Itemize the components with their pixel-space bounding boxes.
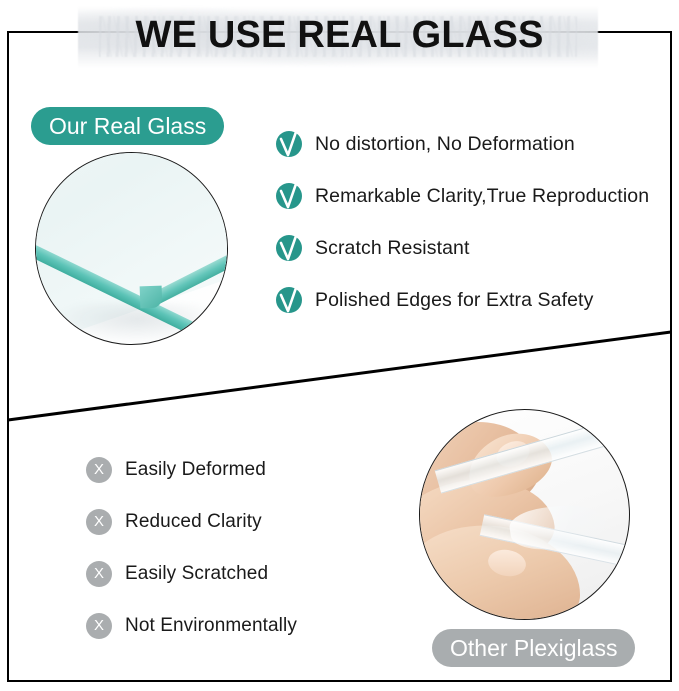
check-icon xyxy=(276,183,302,209)
x-icon: X xyxy=(86,509,112,535)
diagonal-divider xyxy=(8,330,671,422)
list-item-label: Remarkable Clarity,True Reproduction xyxy=(315,185,649,208)
plexiglass-photo xyxy=(419,409,630,620)
list-item-label: Easily Deformed xyxy=(125,459,266,481)
page-title: WE USE REAL GLASS xyxy=(0,14,679,57)
list-item-label: Easily Scratched xyxy=(125,563,268,585)
pros-list: No distortion, No Deformation Remarkable… xyxy=(276,131,649,339)
x-icon: X xyxy=(86,613,112,639)
list-item: Scratch Resistant xyxy=(276,235,649,261)
list-item: Polished Edges for Extra Safety xyxy=(276,287,649,313)
glass-polished-corner xyxy=(140,286,163,309)
infographic-canvas: WE USE REAL GLASS Our Real Glass No dist… xyxy=(0,0,679,691)
badge-our-real-glass: Our Real Glass xyxy=(31,107,224,145)
list-item: Remarkable Clarity,True Reproduction xyxy=(276,183,649,209)
list-item-label: Reduced Clarity xyxy=(125,511,262,533)
list-item-label: Polished Edges for Extra Safety xyxy=(315,289,593,312)
real-glass-photo xyxy=(35,152,228,345)
list-item-label: No distortion, No Deformation xyxy=(315,133,575,156)
x-icon: X xyxy=(86,561,112,587)
list-item: X Easily Deformed xyxy=(86,457,297,483)
list-item: No distortion, No Deformation xyxy=(276,131,649,157)
check-icon xyxy=(276,131,302,157)
cons-list: X Easily Deformed X Reduced Clarity X Ea… xyxy=(86,457,297,665)
check-icon xyxy=(276,287,302,313)
list-item: X Reduced Clarity xyxy=(86,509,297,535)
x-icon: X xyxy=(86,457,112,483)
check-icon xyxy=(276,235,302,261)
list-item: X Easily Scratched xyxy=(86,561,297,587)
badge-other-plexiglass: Other Plexiglass xyxy=(432,629,635,667)
list-item: X Not Environmentally xyxy=(86,613,297,639)
list-item-label: Scratch Resistant xyxy=(315,237,470,260)
list-item-label: Not Environmentally xyxy=(125,615,297,637)
